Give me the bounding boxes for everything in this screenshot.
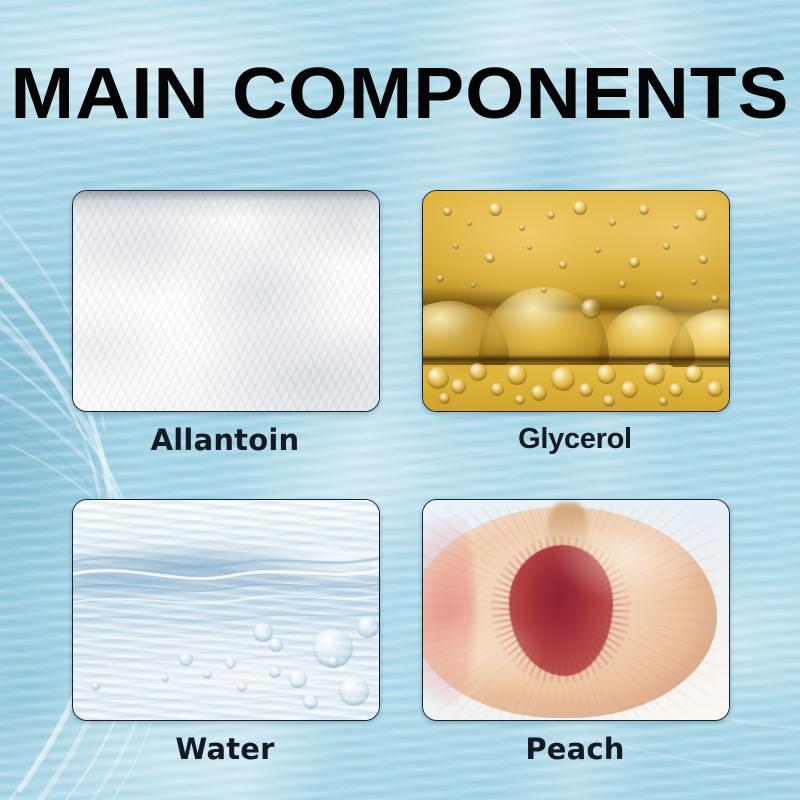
glycerol-image — [422, 190, 730, 412]
allantoin-image — [72, 190, 380, 412]
main-components-poster: MAIN COMPONENTS Allantoin — [0, 0, 800, 800]
peach-highlight — [422, 507, 717, 718]
component-label-glycerol: Glycerol — [422, 423, 728, 456]
water-bubble — [179, 652, 193, 666]
oil-bubble — [489, 203, 502, 216]
oil-foam-bubble — [451, 379, 466, 394]
water-wave-lines — [73, 500, 379, 720]
oil-bubble — [629, 257, 640, 268]
water-bubble-large — [339, 676, 369, 706]
component-label-water: Water — [72, 732, 378, 766]
water-bubble — [161, 674, 169, 682]
water-bubble — [237, 682, 247, 692]
oil-bubble — [663, 243, 670, 250]
oil-bubble — [471, 283, 476, 288]
oil-bubble — [673, 223, 679, 229]
oil-foam-bubble — [659, 397, 668, 406]
oil-bubble — [619, 281, 626, 288]
water-bubble — [269, 638, 283, 652]
component-card-allantoin[interactable]: Allantoin — [72, 190, 378, 457]
oil-bubble — [691, 279, 697, 285]
peach-image — [422, 499, 730, 721]
oil-foam-bubble — [685, 365, 703, 383]
water-bubble — [253, 622, 273, 642]
oil-bubble — [595, 247, 601, 253]
peach-flesh — [422, 507, 717, 718]
water-bubble — [303, 694, 318, 709]
component-card-glycerol[interactable]: Glycerol — [422, 190, 728, 457]
oil-foam-bubble — [603, 395, 615, 407]
oil-bubble — [547, 211, 555, 219]
oil-foam-bubble — [439, 393, 450, 404]
component-card-peach[interactable]: Peach — [422, 499, 728, 766]
oil-foam-bubble — [491, 383, 504, 396]
oil-foam-bubble — [469, 363, 487, 381]
oil-foam-bubble — [597, 365, 616, 384]
oil-bubble — [443, 207, 452, 216]
oil-foam-bubble — [427, 367, 449, 389]
oil-foam-bubble — [707, 381, 723, 397]
oil-waterline — [423, 355, 729, 364]
oil-foam-bubble — [621, 381, 638, 398]
oil-bubble — [541, 287, 547, 293]
water-bubble — [203, 670, 212, 679]
water-bubble — [289, 670, 307, 688]
oil-foam-bubble — [669, 383, 683, 397]
oil-bubble-large — [581, 299, 601, 319]
water-bubble — [357, 616, 379, 638]
oil-foam-bubble — [531, 385, 547, 401]
page-title: MAIN COMPONENTS — [0, 58, 800, 130]
water-bubble — [91, 682, 100, 691]
powder-top-shadow — [73, 191, 379, 411]
component-card-water[interactable]: Water — [72, 499, 378, 766]
component-label-allantoin: Allantoin — [72, 423, 378, 457]
components-grid: Allantoin — [72, 190, 728, 766]
water-bubble — [327, 656, 339, 668]
oil-bubble — [453, 243, 459, 249]
oil-foam-bubble — [579, 383, 593, 397]
oil-bubble — [609, 219, 616, 226]
water-image — [72, 499, 380, 721]
water-bubble — [269, 666, 281, 678]
oil-bubble — [699, 255, 708, 264]
oil-bubble — [559, 261, 567, 269]
oil-bubble — [519, 225, 525, 231]
component-label-peach: Peach — [422, 732, 728, 766]
oil-bubble — [467, 221, 472, 226]
oil-bubble — [437, 275, 444, 282]
oil-bubble — [695, 209, 707, 221]
oil-foam-bubble — [515, 395, 525, 405]
oil-bubble — [655, 291, 664, 300]
oil-foam-bubble — [551, 367, 575, 391]
oil-foam-bubble — [507, 365, 527, 385]
oil-bubble — [639, 205, 649, 215]
water-bubble — [225, 658, 236, 669]
oil-bubble — [711, 295, 719, 303]
oil-bubble — [573, 201, 587, 215]
oil-foam-bubble — [643, 363, 665, 385]
oil-bubble — [527, 245, 532, 250]
oil-bubble — [485, 253, 495, 263]
